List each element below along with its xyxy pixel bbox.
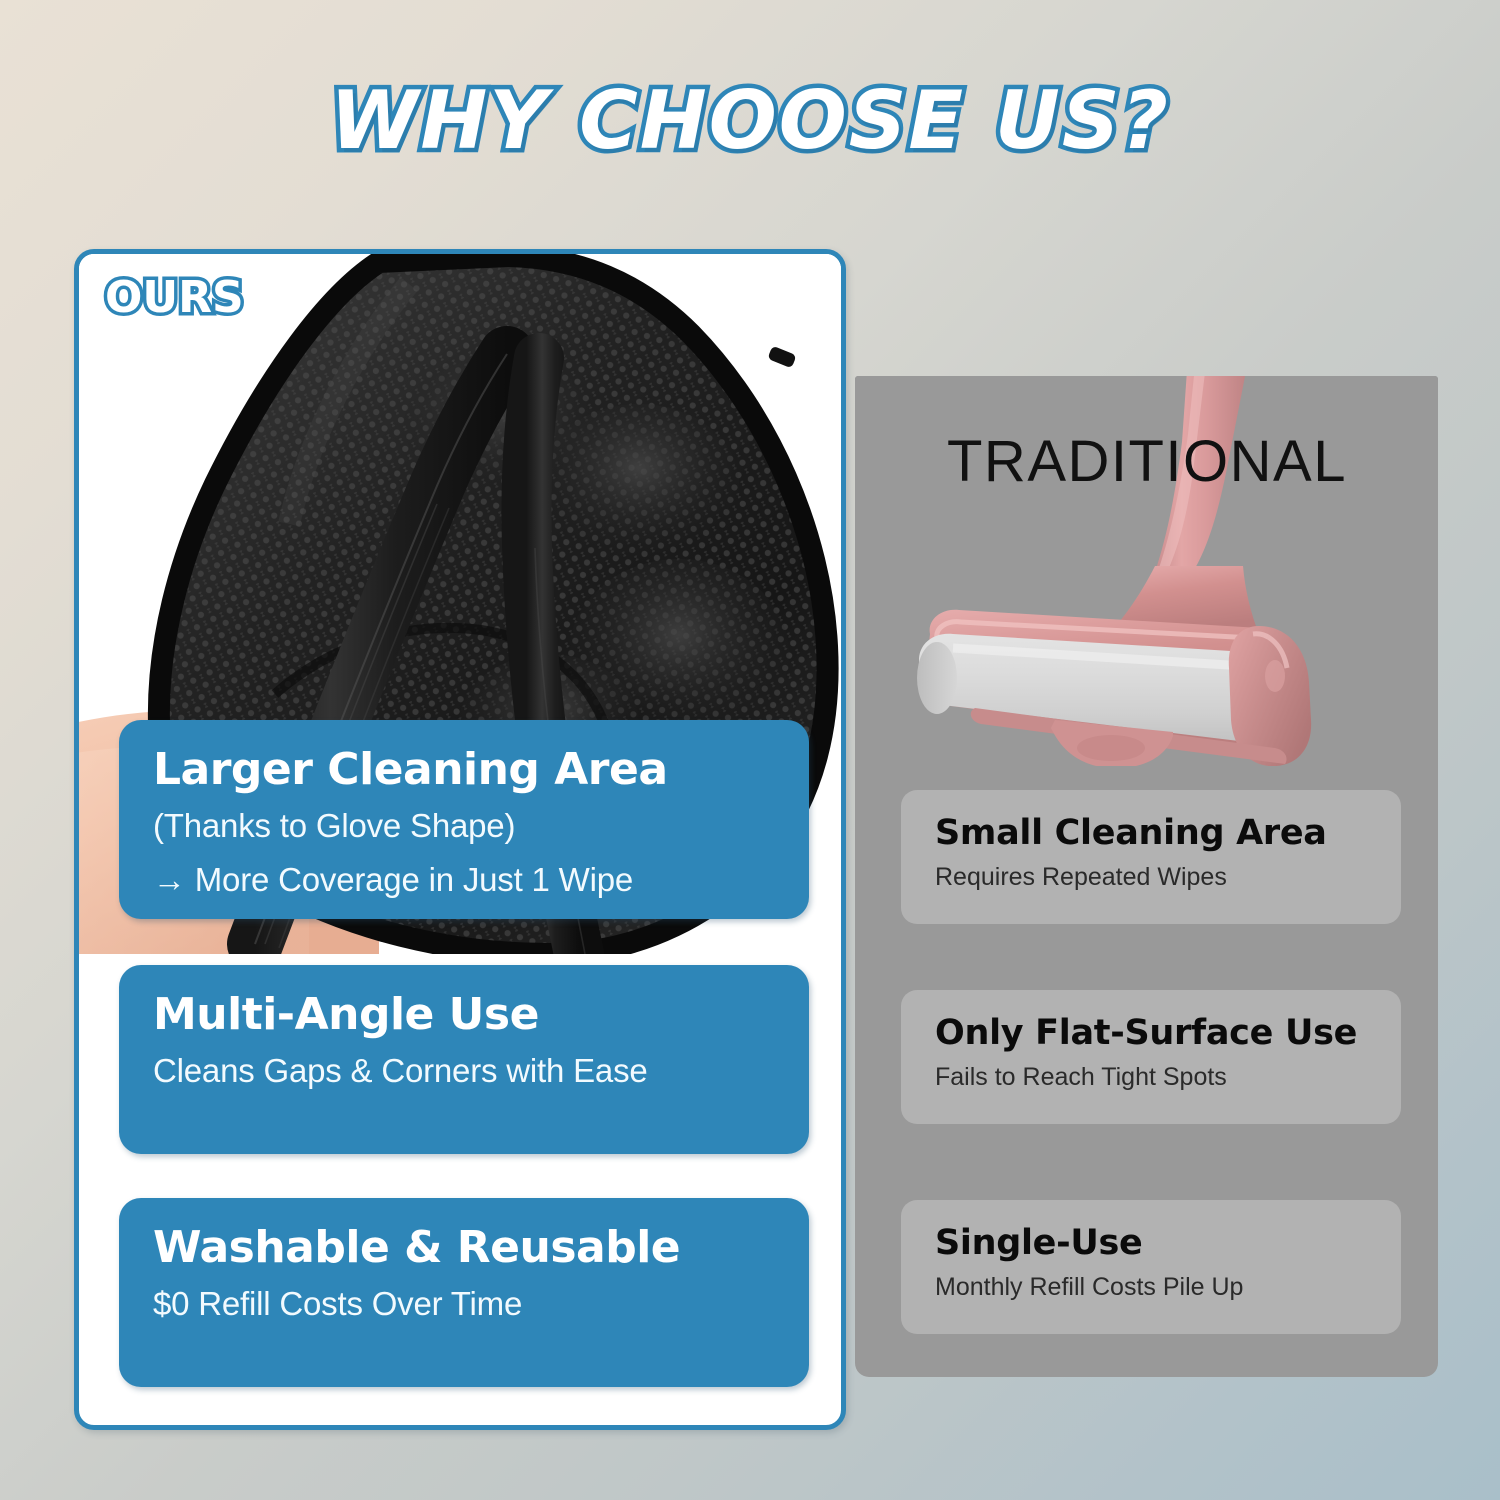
drawback-title: Single-Use	[935, 1224, 1367, 1263]
feature-subtitle-line-1: (Thanks to Glove Shape)	[153, 804, 775, 849]
feature-card-larger-cleaning-area: Larger Cleaning Area (Thanks to Glove Sh…	[119, 720, 809, 919]
drawback-subtitle: Requires Repeated Wipes	[935, 861, 1367, 894]
traditional-badge: TRADITIONAL	[947, 428, 1347, 495]
drawback-title: Small Cleaning Area	[935, 814, 1367, 853]
drawback-subtitle: Fails to Reach Tight Spots	[935, 1061, 1367, 1094]
feature-subtitle-line-1: $0 Refill Costs Over Time	[153, 1282, 775, 1327]
drawback-card-small-cleaning-area: Small Cleaning Area Requires Repeated Wi…	[901, 790, 1401, 924]
ours-card: OURS	[74, 249, 846, 1430]
drawback-card-single-use: Single-Use Monthly Refill Costs Pile Up	[901, 1200, 1401, 1334]
feature-subtitle-line-2: → More Coverage in Just 1 Wipe	[153, 858, 775, 903]
feature-card-washable-reusable: Washable & Reusable $0 Refill Costs Over…	[119, 1198, 809, 1387]
ours-badge: OURS	[105, 272, 244, 323]
feature-title: Washable & Reusable	[153, 1224, 775, 1272]
drawback-title: Only Flat-Surface Use	[935, 1014, 1367, 1053]
feature-title: Larger Cleaning Area	[153, 746, 775, 794]
feature-card-multi-angle-use: Multi-Angle Use Cleans Gaps & Corners wi…	[119, 965, 809, 1154]
headline-container: WHY CHOOSE US?	[0, 74, 1500, 167]
drawback-subtitle: Monthly Refill Costs Pile Up	[935, 1271, 1367, 1304]
drawback-card-only-flat-surface-use: Only Flat-Surface Use Fails to Reach Tig…	[901, 990, 1401, 1124]
feature-subtitle-line-1: Cleans Gaps & Corners with Ease	[153, 1049, 775, 1094]
traditional-panel: TRADITIONAL Small Cleaning Area Requires…	[855, 376, 1438, 1377]
feature-title: Multi-Angle Use	[153, 991, 775, 1039]
page-title: WHY CHOOSE US?	[330, 74, 1170, 167]
infographic-canvas: WHY CHOOSE US? OURS	[0, 0, 1500, 1500]
